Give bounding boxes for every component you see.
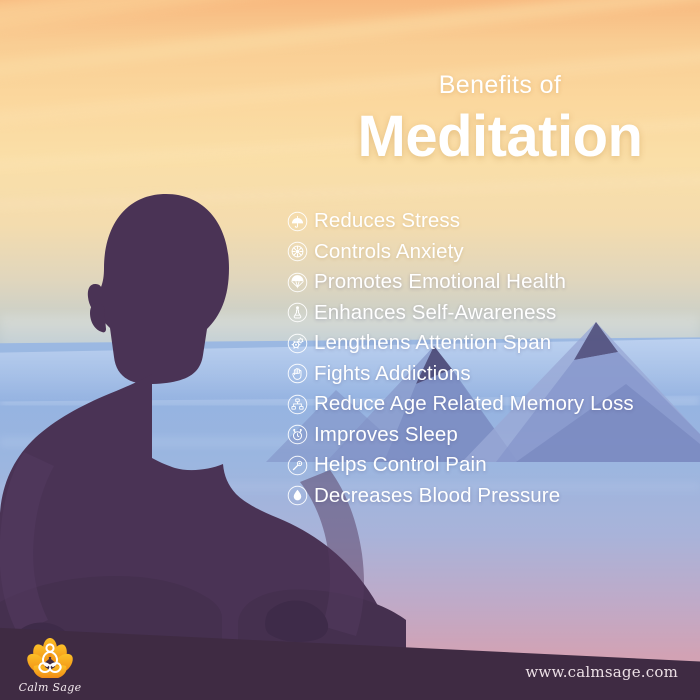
brand-logo: Calm Sage	[12, 636, 88, 694]
pin-needle-icon	[287, 455, 308, 476]
person-flask-icon	[287, 302, 308, 323]
brand-name: Calm Sage	[12, 681, 88, 694]
benefit-label: Controls Anxiety	[314, 240, 464, 264]
benefit-item: Promotes Emotional Health	[287, 267, 687, 298]
mandala-flower-icon	[287, 241, 308, 262]
benefit-item: Enhances Self-Awareness	[287, 298, 687, 329]
benefit-label: Reduce Age Related Memory Loss	[314, 392, 634, 416]
benefit-label: Reduces Stress	[314, 209, 460, 233]
website-url[interactable]: www.calmsage.com	[525, 663, 678, 681]
benefit-label: Enhances Self-Awareness	[314, 301, 556, 325]
benefit-item: Decreases Blood Pressure	[287, 481, 687, 512]
benefit-label: Lengthens Attention Span	[314, 331, 551, 355]
lotus-meditation-logo-icon	[26, 636, 74, 680]
parachute-icon	[287, 272, 308, 293]
benefit-label: Promotes Emotional Health	[314, 270, 566, 294]
meditation-benefits-poster: Benefits of Meditation Reduces StressCon…	[0, 0, 700, 700]
benefit-label: Improves Sleep	[314, 423, 458, 447]
benefit-item: Reduce Age Related Memory Loss	[287, 389, 687, 420]
benefit-item: Controls Anxiety	[287, 237, 687, 268]
benefit-item: Improves Sleep	[287, 420, 687, 451]
benefit-item: Reduces Stress	[287, 206, 687, 237]
gears-icon	[287, 333, 308, 354]
network-nodes-icon	[287, 394, 308, 415]
benefit-label: Decreases Blood Pressure	[314, 484, 560, 508]
benefit-label: Helps Control Pain	[314, 453, 487, 477]
benefit-item: Helps Control Pain	[287, 450, 687, 481]
water-drop-icon	[287, 485, 308, 506]
benefits-list: Reduces StressControls AnxietyPromotes E…	[287, 206, 687, 511]
benefit-label: Fights Addictions	[314, 362, 471, 386]
benefit-item: Lengthens Attention Span	[287, 328, 687, 359]
raised-hand-icon	[287, 363, 308, 384]
alarm-clock-icon	[287, 424, 308, 445]
umbrella-cloud-icon	[287, 211, 308, 232]
benefit-item: Fights Addictions	[287, 359, 687, 390]
